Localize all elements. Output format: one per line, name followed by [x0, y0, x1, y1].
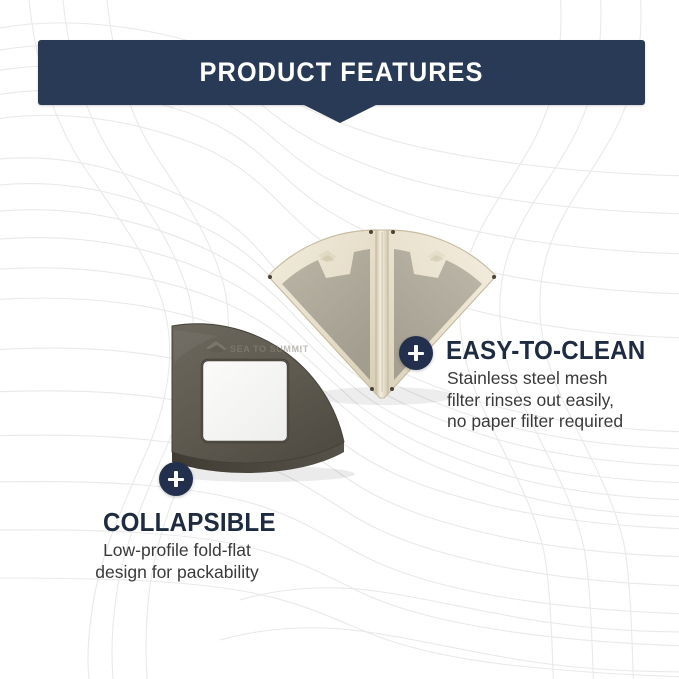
cream-center-hinge — [376, 230, 388, 398]
plus-icon-collapsible[interactable] — [159, 462, 193, 496]
header-banner: PRODUCT FEATURES — [38, 40, 645, 105]
feature-body-line: filter rinses out easily, — [447, 390, 657, 412]
feature-heading-collapsible: COLLAPSIBLE — [103, 507, 276, 538]
product-image-grey-dripper-folded: SEA TO SUMMIT — [158, 302, 368, 484]
feature-body-easy-to-clean: Stainless steel mesh filter rinses out e… — [447, 368, 657, 433]
svg-text:SEA TO SUMMIT: SEA TO SUMMIT — [230, 344, 309, 354]
feature-body-line: no paper filter required — [447, 411, 657, 433]
plus-icon-easy-to-clean[interactable] — [399, 336, 433, 370]
feature-body-line: design for packability — [56, 562, 298, 584]
feature-body-collapsible: Low-profile fold-flat design for packabi… — [56, 540, 298, 583]
infographic-canvas: PRODUCT FEATURES — [0, 0, 679, 679]
grey-window-cutout — [202, 360, 288, 442]
banner-notch-arrow — [302, 104, 378, 123]
page-title: PRODUCT FEATURES — [56, 40, 627, 105]
feature-body-line: Low-profile fold-flat — [56, 540, 298, 562]
feature-heading-easy-to-clean: EASY-TO-CLEAN — [446, 335, 645, 366]
feature-body-line: Stainless steel mesh — [447, 368, 657, 390]
